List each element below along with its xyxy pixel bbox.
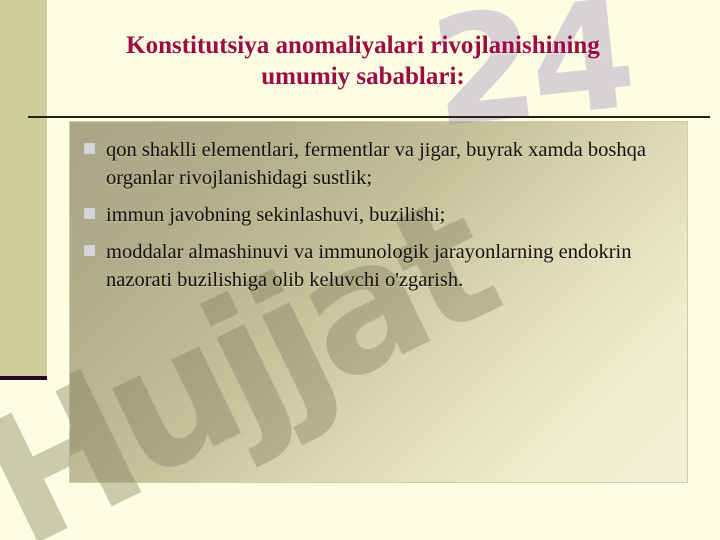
page-title-line-1: Konstitutsiya anomaliyalari rivojlanishi… bbox=[126, 32, 600, 59]
content-panel: 24 Hujjat qon shaklli elementlari, ferme… bbox=[70, 122, 687, 482]
page-title: Konstitutsiya anomaliyalari rivojlanishi… bbox=[58, 30, 668, 92]
list-item-text: moddalar almashinuvi va immunologik jara… bbox=[106, 238, 669, 294]
bullet-list: qon shaklli elementlari, fermentlar va j… bbox=[70, 122, 687, 294]
bullet-square-icon bbox=[84, 143, 95, 154]
list-item-text: qon shaklli elementlari, fermentlar va j… bbox=[106, 136, 669, 192]
bullet-square-icon bbox=[84, 208, 95, 219]
left-accent-strip bbox=[0, 0, 47, 376]
bullet-square-icon bbox=[84, 245, 95, 256]
left-accent-strip-rule bbox=[0, 376, 47, 380]
list-item: immun javobning sekinlashuvi, buzilishi; bbox=[84, 201, 669, 229]
list-item-text: immun javobning sekinlashuvi, buzilishi; bbox=[106, 201, 445, 229]
list-item: moddalar almashinuvi va immunologik jara… bbox=[84, 238, 669, 294]
presentation-slide: 24 Hujjat Konstitutsiya anomaliyalari ri… bbox=[0, 0, 720, 540]
list-item: qon shaklli elementlari, fermentlar va j… bbox=[84, 136, 669, 192]
page-title-line-2: umumiy sabablari: bbox=[261, 63, 465, 90]
title-divider-rule bbox=[28, 116, 710, 118]
